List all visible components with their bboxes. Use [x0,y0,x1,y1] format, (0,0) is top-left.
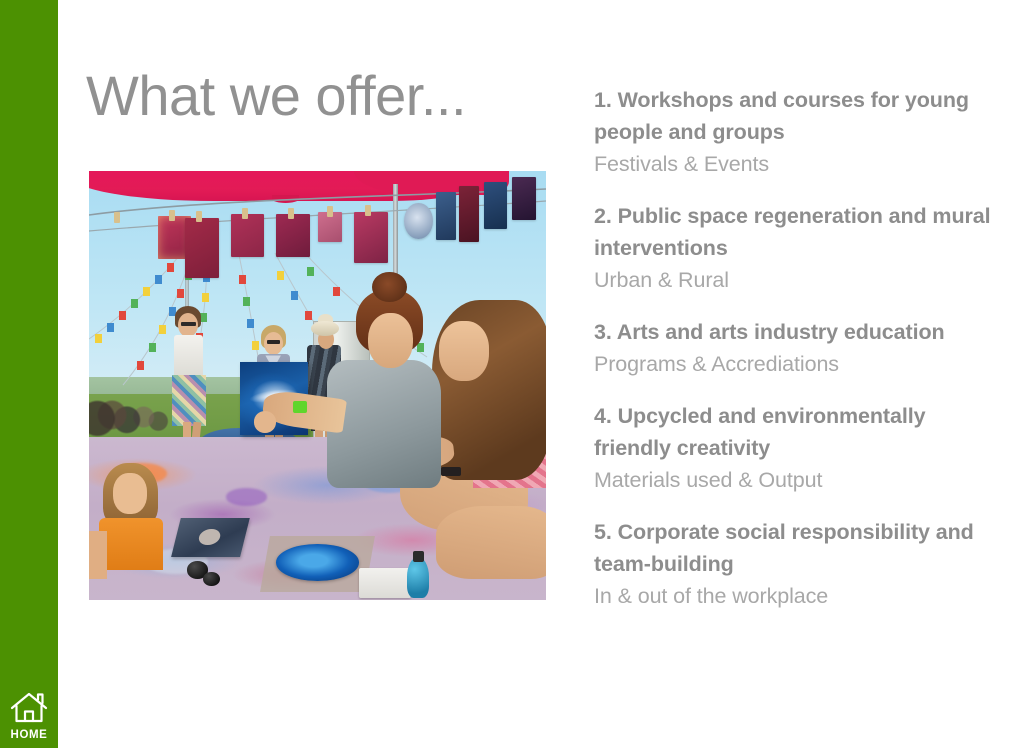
clothes-peg [242,208,248,219]
woman-crouching-hand [254,411,277,432]
offer-subtitle: Festivals & Events [594,148,994,180]
clothes-peg [196,211,202,222]
clothes-peg [365,205,371,216]
clothes-peg [327,206,333,217]
clothes-peg [169,210,175,221]
offer-heading: 1. Workshops and courses for young peopl… [594,84,994,148]
offer-item: 2. Public space regeneration and mural i… [594,200,994,296]
offer-item: 5. Corporate social responsibility and t… [594,516,994,612]
printed-banner [512,177,537,220]
offer-heading: 5. Corporate social responsibility and t… [594,516,994,580]
offer-item: 1. Workshops and courses for young peopl… [594,84,994,180]
printed-banner [484,182,507,229]
offer-item: 4. Upcycled and environmentally friendly… [594,400,994,496]
person-walking-sunglasses [181,322,196,326]
left-sidebar: HOME [0,0,58,748]
printed-square-dog [231,214,265,257]
spray-paint-can [359,568,412,598]
printed-square-pineapple [354,212,388,263]
offer-subtitle: Programs & Accrediations [594,348,994,380]
home-icon [9,690,49,726]
clothes-peg [288,208,294,219]
printed-circle [404,203,432,239]
photo-canvas [89,171,546,600]
offer-item: 3. Arts and arts industry education Prog… [594,316,994,380]
paint-splat [226,488,267,505]
offer-list: 1. Workshops and courses for young peopl… [594,84,994,612]
girl-orange-top [99,518,163,569]
girl-orange-face [113,473,147,514]
workshop-photo [89,171,546,600]
girl-orange-arm [89,531,107,578]
clothes-peg [114,212,120,223]
printed-square [185,218,219,278]
stencil-sheet [171,518,249,557]
girl-right-face [439,321,489,381]
spray-can-cap [407,557,430,598]
woman-crouching-face [368,313,414,369]
girl-right-bracelet [441,467,462,476]
printed-banner [436,192,456,239]
page-title: What we offer... [86,64,466,128]
offer-subtitle: In & out of the workplace [594,580,994,612]
paint-blob [203,572,219,586]
blue-circular-artwork [276,544,358,580]
person-walking-skirt [172,375,206,426]
offer-subtitle: Materials used & Output [594,464,994,496]
home-nav-button[interactable]: HOME [0,690,58,742]
offer-heading: 3. Arts and arts industry education [594,316,994,348]
spray-can-nozzle [413,551,424,562]
offer-heading: 2. Public space regeneration and mural i… [594,200,994,264]
person-standing-sunglasses [267,340,281,344]
woman-crouching-top [327,360,441,489]
printed-square-anchor [276,214,310,257]
offer-subtitle: Urban & Rural [594,264,994,296]
printed-banner [459,186,479,242]
woman-crouching-hair-bun [372,272,406,302]
home-label: HOME [0,728,58,742]
offer-heading: 4. Upcycled and environmentally friendly… [594,400,994,464]
person-walking-top [174,335,203,378]
woman-crouching-wristband [293,401,308,414]
girl-right-leg [436,506,546,579]
sun-hat [311,321,339,336]
